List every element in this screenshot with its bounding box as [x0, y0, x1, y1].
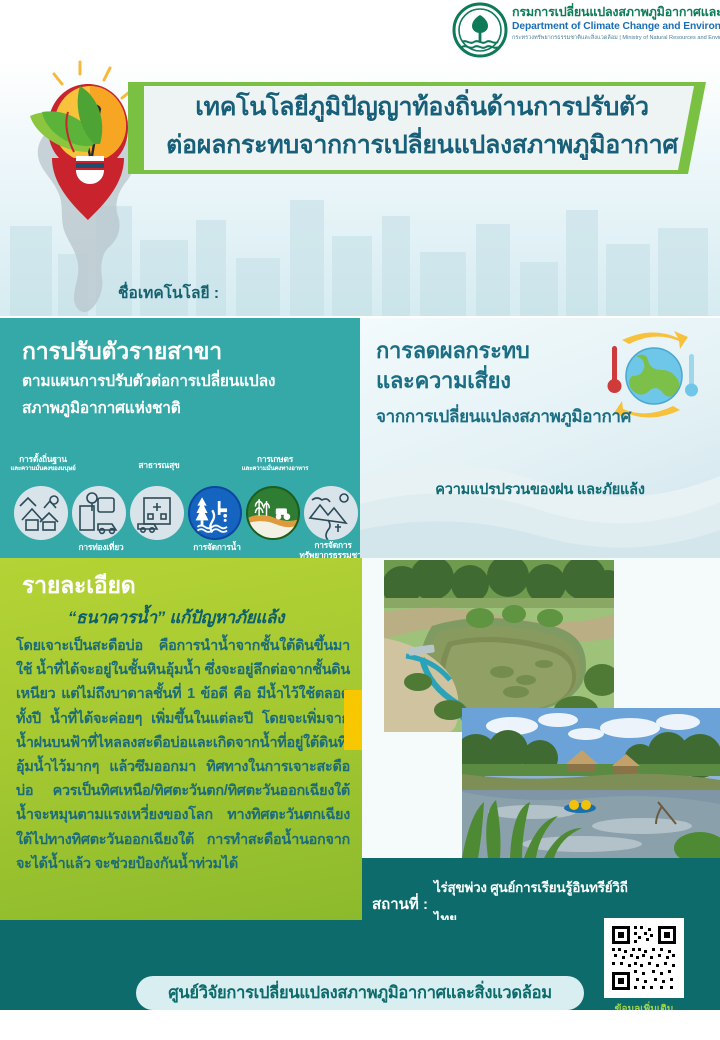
pond-with-reeds-and-huts-photo	[462, 708, 720, 858]
qr-code-icon[interactable]	[604, 918, 684, 998]
tech-name-label: ชื่อเทคโนโลยี :	[118, 280, 219, 305]
mitigation-panel-note: ความแปรปรวนของฝน และภัยแล้ง	[360, 478, 720, 501]
agriculture-farm-icon	[246, 486, 300, 540]
adaptation-panel-subtitle: ตามแผนการปรับตัวต่อการเปลี่ยนแปลง สภาพภู…	[22, 368, 342, 422]
sector-item-public-health[interactable]: สาธารณสุข	[130, 486, 188, 540]
detail-body-text: โดยเจาะเป็นสะดือบ่อ คือการนำน้ำจากชั้นใต…	[16, 634, 350, 876]
org-name-english: Department of Climate Change and Environ…	[512, 20, 718, 34]
sector-item-water-management[interactable]: การจัดการน้ำ	[188, 486, 246, 540]
detail-section: รายละเอียด “ธนาคารน้ำ” แก้ปัญหาภัยแล้ง โ…	[0, 558, 362, 920]
sector-item-natural-resources[interactable]: การจัดการ ทรัพยากรธรรมชาติ	[304, 486, 362, 540]
mitigation-title-line-1: การลดผลกระทบ	[376, 336, 586, 366]
location-label: สถานที่ :	[372, 892, 428, 916]
mitigation-title-line-2: และความเสี่ยง	[376, 366, 586, 396]
mitigation-panel: การลดผลกระทบ และความเสี่ยง จากการเปลี่ยน…	[360, 318, 720, 558]
dcce-text-block: กรมการเปลี่ยนแปลงสภาพภูมิอากาศและสิ่งแวด…	[512, 4, 718, 43]
sector-label-water-management: การจัดการน้ำ	[155, 542, 279, 552]
natural-resources-mountain-icon	[304, 486, 358, 540]
footer-white-strip	[0, 1010, 720, 1040]
page-title: เทคโนโลยีภูมิปัญญาท้องถิ่นด้านการปรับตัว…	[148, 88, 696, 164]
detail-subtitle: “ธนาคารน้ำ” แก้ปัญหาภัยแล้ง	[0, 604, 352, 631]
footer-pill[interactable]: ศูนย์วิจัยการเปลี่ยนแปลงสภาพภูมิอากาศและ…	[136, 976, 584, 1010]
sector-item-agriculture[interactable]: การเกษตร และความมั่นคงทางอาหาร	[246, 486, 304, 540]
sector-label-tourism: การท่องเที่ยว	[39, 542, 163, 552]
page-title-line-1: เทคโนโลยีภูมิปัญญาท้องถิ่นด้านการปรับตัว	[148, 88, 696, 126]
settlement-houses-icon	[14, 486, 68, 540]
footer-text: ศูนย์วิจัยการเปลี่ยนแปลงสภาพภูมิอากาศและ…	[168, 980, 552, 1006]
adaptation-panel-title: การปรับตัวรายสาขา	[22, 334, 222, 370]
header-band: กรมการเปลี่ยนแปลงสภาพภูมิอากาศและสิ่งแวด…	[0, 0, 720, 62]
page-title-line-2: ต่อผลกระทบจากการเปลี่ยนแปลงสภาพภูมิอากาศ	[148, 126, 696, 164]
sector-label-agriculture: การเกษตร และความมั่นคงทางอาหาร	[213, 454, 337, 474]
dcce-emblem-icon	[452, 2, 508, 58]
mitigation-panel-title: การลดผลกระทบ และความเสี่ยง	[376, 336, 586, 396]
adaptation-subtitle-line-2: สภาพภูมิอากาศแห่งชาติ	[22, 395, 342, 422]
org-name-thai: กรมการเปลี่ยนแปลงสภาพภูมิอากาศและสิ่งแวด…	[512, 4, 718, 20]
tourism-city-car-icon	[72, 486, 126, 540]
hero-section: เทคโนโลยีภูมิปัญญาท้องถิ่นด้านการปรับตัว…	[0, 58, 720, 316]
sector-item-settlement[interactable]: การตั้งถิ่นฐาน และความมั่นคงของมนุษย์	[14, 486, 72, 540]
detail-title: รายละเอียด	[22, 568, 135, 604]
sector-item-tourism[interactable]: การท่องเที่ยว	[72, 486, 130, 540]
public-health-hospital-icon	[130, 486, 184, 540]
mitigation-panel-subtitle: จากการเปลี่ยนแปลงสภาพภูมิอากาศ	[376, 403, 706, 430]
sector-label-public-health: สาธารณสุข	[97, 460, 221, 470]
photo-gallery	[362, 558, 720, 858]
adaptation-subtitle-line-1: ตามแผนการปรับตัวต่อการเปลี่ยนแปลง	[22, 368, 342, 395]
poster-root: กรมการเปลี่ยนแปลงสภาพภูมิอากาศและสิ่งแวด…	[0, 0, 720, 1040]
sector-label-settlement: การตั้งถิ่นฐาน และความมั่นคงของมนุษย์	[0, 454, 105, 474]
sector-icon-row: การตั้งถิ่นฐาน และความมั่นคงของมนุษย์	[0, 452, 360, 558]
pond-with-blue-pipes-aerial-photo	[384, 560, 614, 732]
water-management-faucet-icon	[188, 486, 242, 540]
ministry-line: กระทรวงทรัพยากรธรรมชาติและสิ่งแวดล้อม | …	[512, 34, 718, 43]
